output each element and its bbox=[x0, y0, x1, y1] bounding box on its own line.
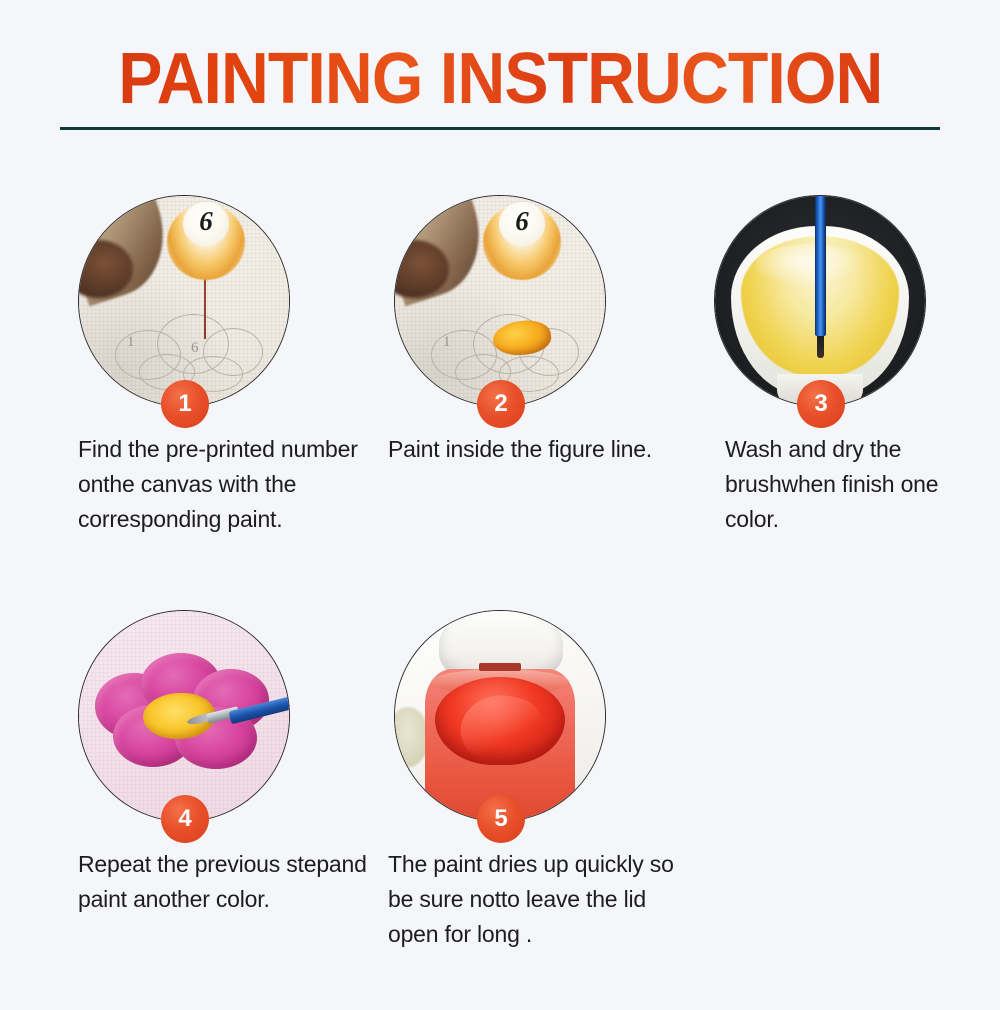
step-card-4: 4 Repeat the previous stepand paint anot… bbox=[60, 595, 380, 835]
canvas-with-orange-paint-illustration: 1 6 bbox=[395, 196, 605, 406]
step-1-image: 1 6 6 bbox=[78, 195, 290, 407]
step-number-badge-1: 1 bbox=[161, 380, 209, 428]
open-red-paint-pot-illustration bbox=[395, 611, 605, 821]
step-card-5: 5 The paint dries up quickly so be sure … bbox=[380, 595, 700, 835]
canvas-number-6: 6 bbox=[191, 340, 199, 357]
water-highlight bbox=[755, 244, 865, 286]
canvas-with-numbered-paint-pot-illustration: 1 6 6 bbox=[79, 196, 289, 406]
brush-tip bbox=[817, 334, 824, 358]
step-4-photo-holder: 4 bbox=[60, 595, 380, 835]
step-number-badge-5: 5 bbox=[477, 795, 525, 843]
step-caption-2: Paint inside the figure line. bbox=[388, 432, 688, 467]
paint-pot-number: 6 bbox=[483, 206, 561, 237]
page-title: PAINTING INSTRUCTION bbox=[118, 42, 882, 116]
steps-row-2: 4 Repeat the previous stepand paint anot… bbox=[0, 595, 1000, 1010]
step-caption-3: Wash and dry the brushwhen finish one co… bbox=[725, 432, 995, 537]
step-5-image bbox=[394, 610, 606, 822]
paint-pot-number: 6 bbox=[167, 206, 245, 237]
step-caption-1: Find the pre-printed number onthe canvas… bbox=[78, 432, 368, 537]
painted-pink-flower-illustration bbox=[79, 611, 289, 821]
blue-brush-handle bbox=[815, 196, 826, 336]
step-card-1: 1 6 6 1 Find the pre-printed number onth… bbox=[60, 180, 380, 420]
steps-grid: 1 6 6 1 Find the pre-printed number onth… bbox=[0, 180, 1000, 1010]
cup-of-water-with-brush-illustration bbox=[715, 196, 925, 406]
step-5-photo-holder: 5 bbox=[380, 595, 700, 835]
paint-pot: 6 bbox=[483, 204, 561, 280]
step-2-image: 1 6 bbox=[394, 195, 606, 407]
paint-pot-hinge bbox=[479, 663, 521, 671]
page-title-container: PAINTING INSTRUCTION bbox=[0, 42, 1000, 116]
step-2-photo-holder: 1 6 2 bbox=[380, 180, 700, 420]
canvas-number-1: 1 bbox=[127, 334, 135, 351]
step-3-image bbox=[714, 195, 926, 407]
canvas-number-1: 1 bbox=[443, 334, 451, 351]
step-card-3: 3 Wash and dry the brushwhen finish one … bbox=[700, 180, 1000, 420]
step-number-badge-2: 2 bbox=[477, 380, 525, 428]
step-3-photo-holder: 3 bbox=[700, 180, 1000, 420]
step-card-2: 1 6 2 Paint inside the figure line. bbox=[380, 180, 700, 420]
title-divider bbox=[60, 127, 940, 130]
step-number-badge-4: 4 bbox=[161, 795, 209, 843]
step-caption-5: The paint dries up quickly so be sure no… bbox=[388, 847, 688, 952]
step-number-badge-3: 3 bbox=[797, 380, 845, 428]
paint-pot: 6 bbox=[167, 204, 245, 280]
step-caption-4: Repeat the previous stepand paint anothe… bbox=[78, 847, 368, 917]
step-4-image bbox=[78, 610, 290, 822]
steps-row-1: 1 6 6 1 Find the pre-printed number onth… bbox=[0, 180, 1000, 595]
step-1-photo-holder: 1 6 6 1 bbox=[60, 180, 380, 420]
